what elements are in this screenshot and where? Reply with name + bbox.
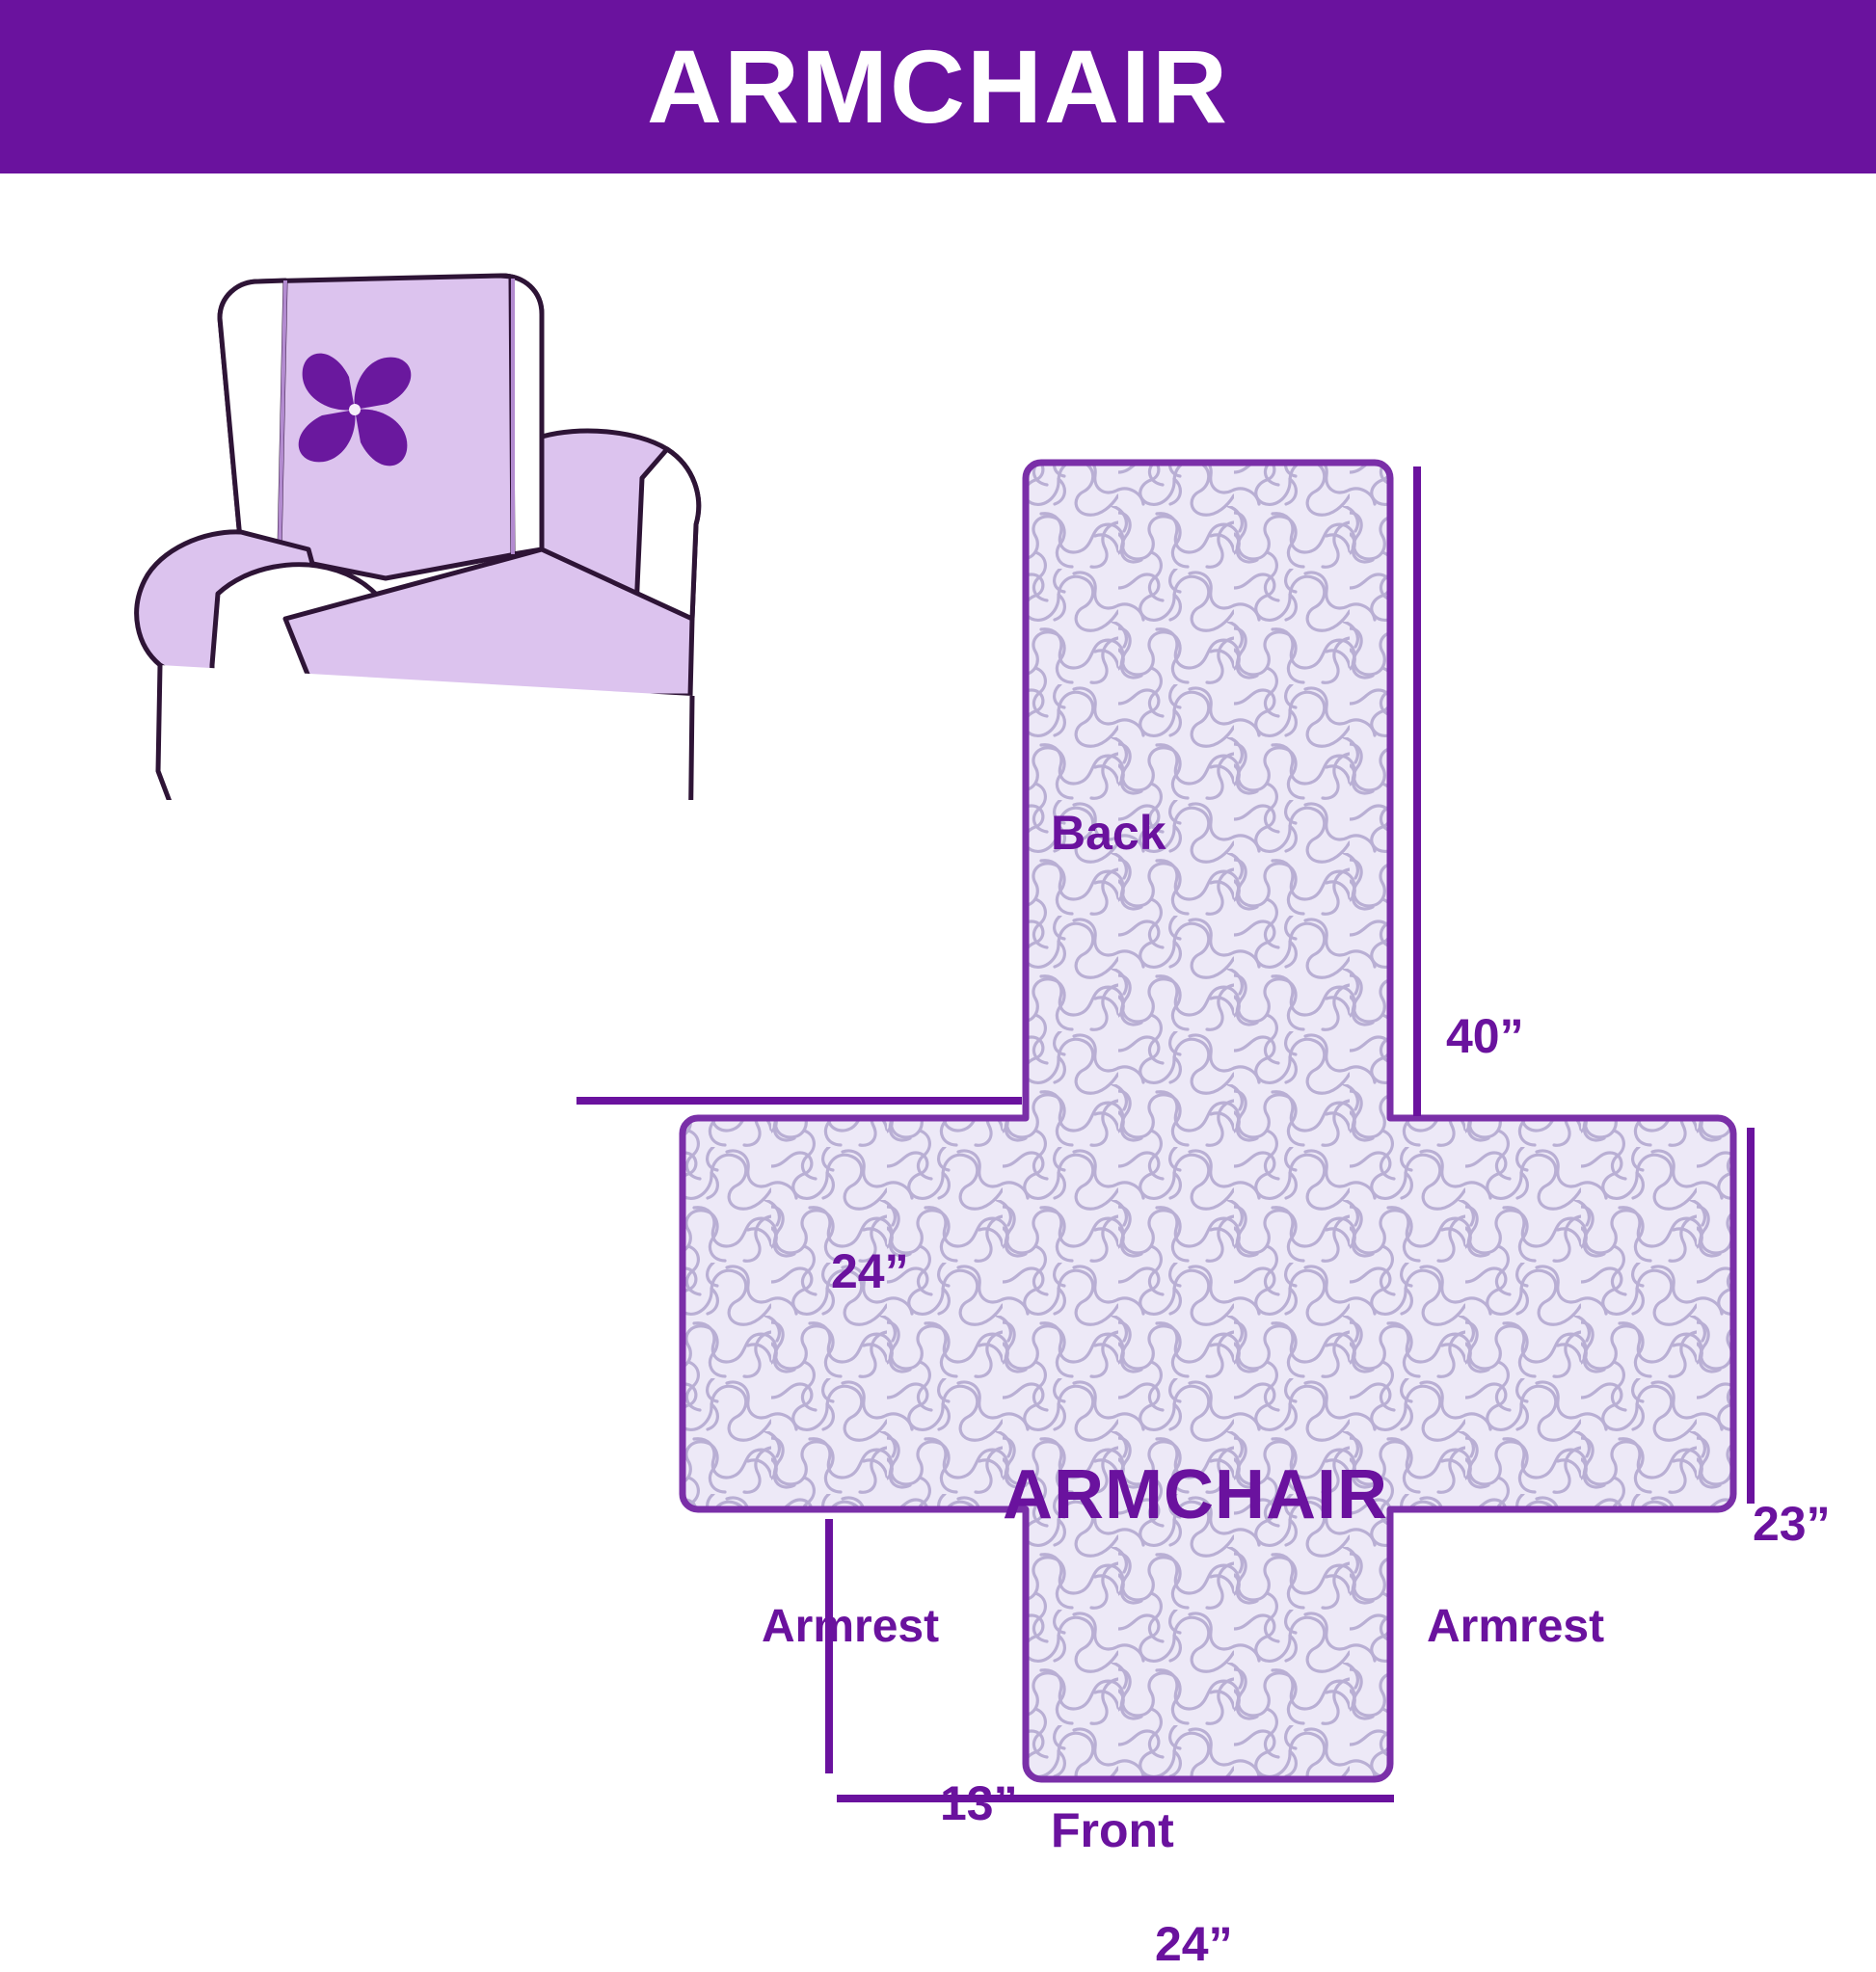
diagram-stage: Back ARMCHAIR Armrest Armrest Front 40” …	[0, 173, 1876, 1876]
header-banner: ARMCHAIR	[0, 0, 1876, 173]
panel-label-back: Back	[1051, 805, 1166, 861]
dimension-label-front-drop: 13”	[940, 1775, 1018, 1831]
cover-cross-body	[540, 453, 1876, 1802]
chair-back-left-strip	[220, 280, 285, 549]
dimension-label-seat-depth: 23”	[1753, 1496, 1831, 1552]
dimension-label-back-height: 40”	[1446, 1008, 1524, 1064]
page-title: ARMCHAIR	[647, 35, 1229, 139]
panel-label-armrest-right: Armrest	[1427, 1600, 1604, 1653]
dimension-label-front-width: 24”	[1155, 1916, 1233, 1972]
panel-label-armrest-left: Armrest	[762, 1600, 939, 1653]
cover-cross-diagram	[540, 453, 1876, 1802]
panel-label-center: ARMCHAIR	[1003, 1455, 1388, 1534]
dimension-label-seat-width-top: 24”	[831, 1243, 909, 1299]
panel-label-front: Front	[1051, 1802, 1174, 1858]
